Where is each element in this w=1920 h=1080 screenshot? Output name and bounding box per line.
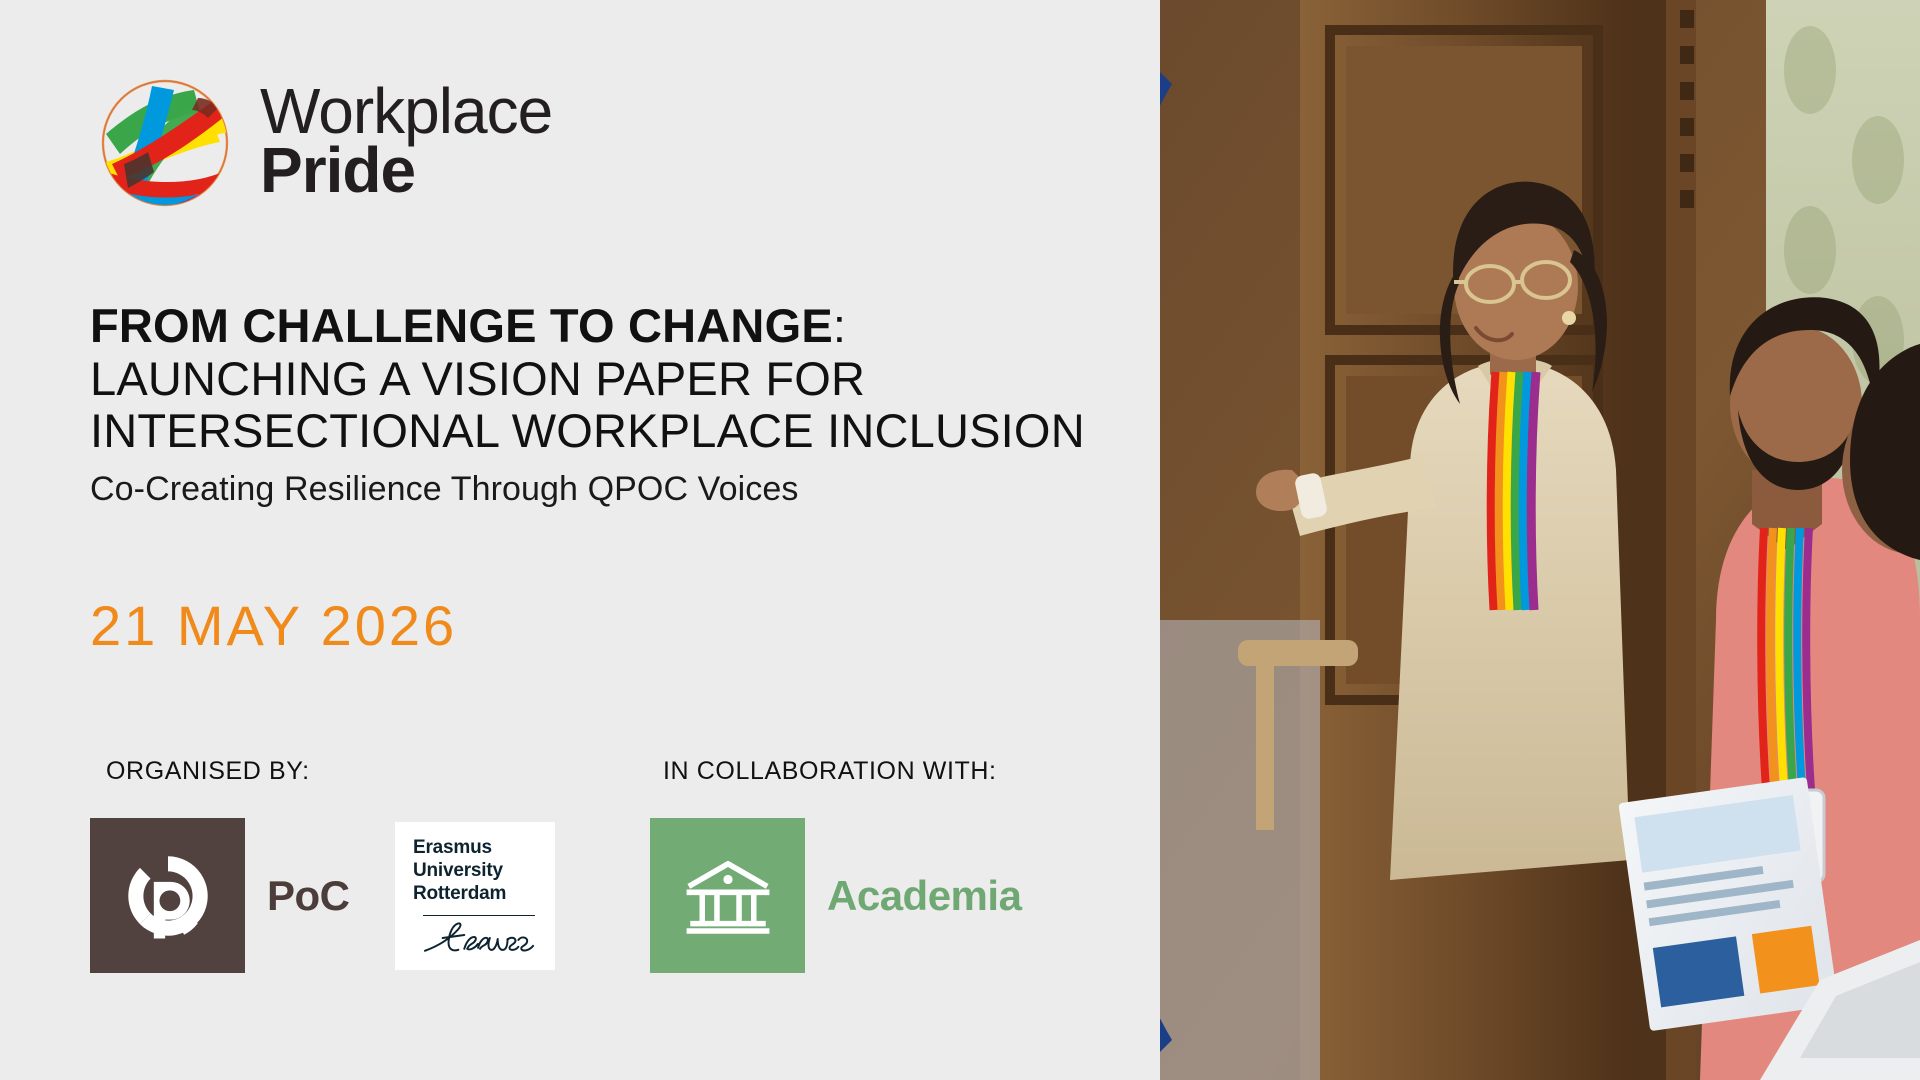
headline-line-1: FROM CHALLENGE TO CHANGE: [90,300,1100,353]
headline-line-1-bold: FROM CHALLENGE TO CHANGE [90,299,833,352]
headline-line-3: INTERSECTIONAL WORKPLACE INCLUSION [90,405,1100,458]
in-collaboration-with-label: IN COLLABORATION WITH: [663,757,997,786]
organised-by-label: ORGANISED BY: [106,757,310,786]
partner-logo-poc: PoC [90,818,350,973]
event-photo-panel [1160,0,1920,1080]
erasmus-line-3: Rotterdam [413,883,545,906]
headline-subtitle: Co-Creating Resilience Through QPOC Voic… [90,470,1100,509]
erasmus-divider [423,915,535,916]
erasmus-logo-tile: Erasmus University Rotterdam [395,822,555,970]
event-banner: Workplace Pride FROM CHALLENGE TO CHANGE… [0,0,1920,1080]
erasmus-signature-icon [421,920,539,954]
event-date: 21 MAY 2026 [90,593,457,658]
brand-name-line2: Pride [260,141,552,200]
headline-line-1-tail: : [833,299,846,352]
poc-monogram-icon [90,818,245,973]
content-column: Workplace Pride FROM CHALLENGE TO CHANGE… [0,0,1160,1080]
brand-wordmark: Workplace Pride [260,82,552,204]
partner-logo-erasmus: Erasmus University Rotterdam [395,818,555,973]
workplace-pride-logo: Workplace Pride [90,68,552,218]
partner-label-row: ORGANISED BY: IN COLLABORATION WITH: [90,757,1100,791]
classical-building-icon [650,818,805,973]
headline-block: FROM CHALLENGE TO CHANGE: LAUNCHING A VI… [90,300,1100,509]
headline-line-2: LAUNCHING A VISION PAPER FOR [90,353,1100,406]
erasmus-line-2: University [413,860,545,883]
partner-logo-academia: Academia [650,818,1021,973]
partner-logo-row: PoC Erasmus University Rotterdam [90,818,1100,973]
erasmus-wordmark: Erasmus University Rotterdam [405,837,545,905]
erasmus-line-1: Erasmus [413,837,545,860]
brand-name-line1: Workplace [260,82,552,141]
academia-label: Academia [827,872,1021,920]
event-photo [1160,0,1920,1080]
poc-label: PoC [267,872,350,920]
rainbow-globe-ribbon-icon [90,68,240,218]
